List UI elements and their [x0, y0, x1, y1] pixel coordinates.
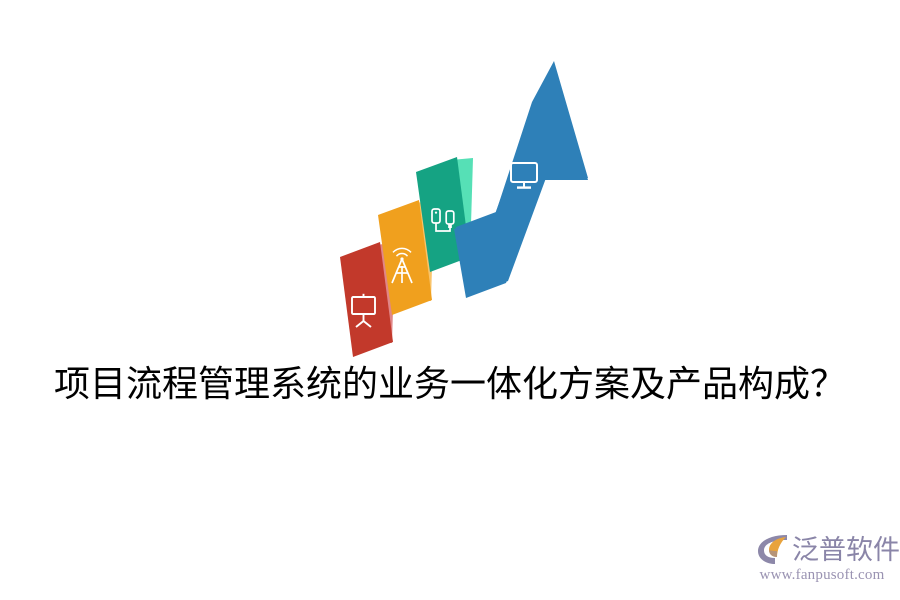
arrow-blue [454, 61, 588, 298]
brand-logo: 泛普软件 www.fanpusoft.com [756, 528, 888, 586]
hero-graphic [320, 45, 610, 355]
brand-name: 泛普软件 [792, 536, 900, 566]
brand-logo-row: 泛普软件 [756, 528, 888, 566]
brand-url: www.fanpusoft.com [756, 567, 888, 584]
page-canvas: 项目流程管理系统的业务一体化方案及产品构成？ 泛普软件 www.fanpusof… [0, 0, 900, 600]
fanpu-c-mark-icon [756, 532, 790, 566]
page-title: 项目流程管理系统的业务一体化方案及产品构成？ [0, 363, 900, 407]
